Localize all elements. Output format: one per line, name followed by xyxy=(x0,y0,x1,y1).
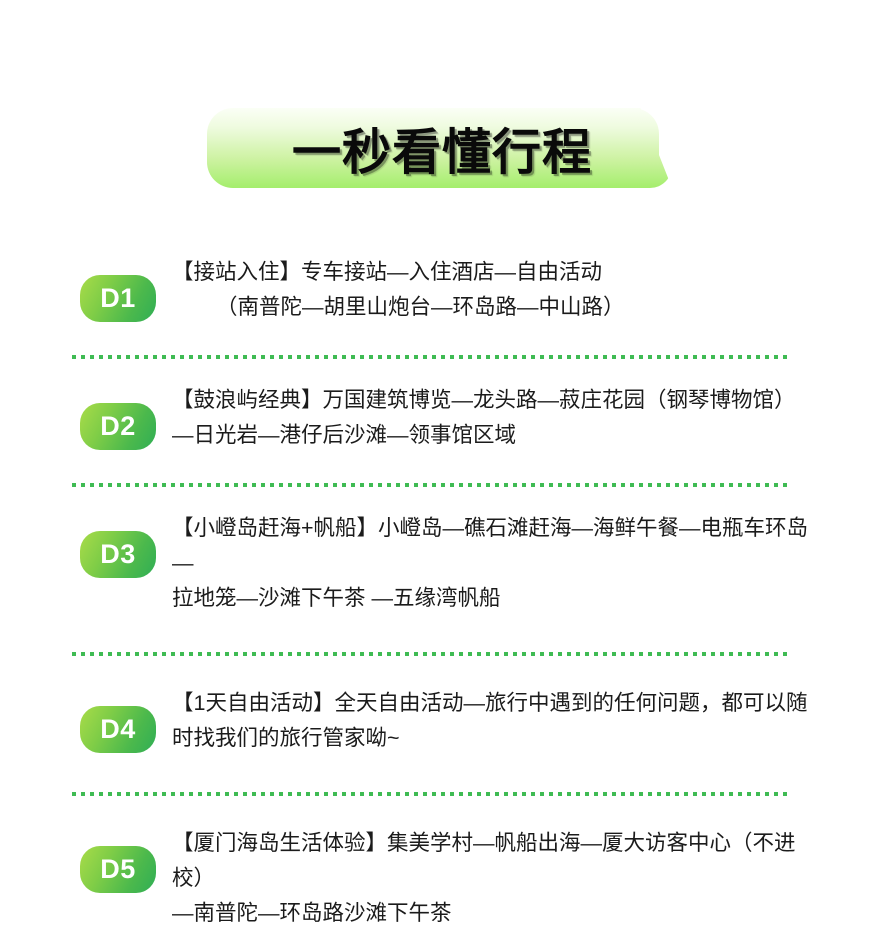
day-badge-d5: D5 xyxy=(80,846,156,893)
day-description-d2: 【鼓浪屿经典】万国建筑博览—龙头路—菽庄花园（钢琴博物馆） —日光岩—港仔后沙滩… xyxy=(156,383,869,453)
day-line: —日光岩—港仔后沙滩—领事馆区域 xyxy=(172,418,811,453)
itinerary-row-d2: D2 【鼓浪屿经典】万国建筑博览—龙头路—菽庄花园（钢琴博物馆） —日光岩—港仔… xyxy=(0,383,869,453)
itinerary-page: 一秒看懂行程 D1 【接站入住】专车接站—入住酒店—自由活动 （南普陀—胡里山炮… xyxy=(0,0,869,869)
page-title: 一秒看懂行程 xyxy=(200,108,690,188)
itinerary-row-d3: D3 【小嶝岛赶海+帆船】小嶝岛—礁石滩赶海—海鲜午餐—电瓶车环岛— 拉地笼—沙… xyxy=(0,511,869,616)
day-line: 拉地笼—沙滩下午茶 —五缘湾帆船 xyxy=(172,581,811,616)
day-line: —南普陀—环岛路沙滩下午茶 xyxy=(172,896,811,931)
day-description-d4: 【1天自由活动】全天自由活动—旅行中遇到的任何问题，都可以随 时找我们的旅行管家… xyxy=(156,686,869,756)
itinerary-row-d4: D4 【1天自由活动】全天自由活动—旅行中遇到的任何问题，都可以随 时找我们的旅… xyxy=(0,686,869,756)
day-line: 【小嶝岛赶海+帆船】小嶝岛—礁石滩赶海—海鲜午餐—电瓶车环岛— xyxy=(172,511,811,581)
day-badge-d4: D4 xyxy=(80,706,156,753)
itinerary-row-d5: D5 【厦门海岛生活体验】集美学村—帆船出海—厦大访客中心（不进校） —南普陀—… xyxy=(0,826,869,931)
itinerary-list: D1 【接站入住】专车接站—入住酒店—自由活动 （南普陀—胡里山炮台—环岛路—中… xyxy=(0,255,869,931)
day-badge-d2: D2 xyxy=(80,403,156,450)
title-banner: 一秒看懂行程 xyxy=(200,108,690,188)
day-description-d1: 【接站入住】专车接站—入住酒店—自由活动 （南普陀—胡里山炮台—环岛路—中山路） xyxy=(156,255,869,325)
day-line: 【接站入住】专车接站—入住酒店—自由活动 xyxy=(172,255,811,290)
day-description-d3: 【小嶝岛赶海+帆船】小嶝岛—礁石滩赶海—海鲜午餐—电瓶车环岛— 拉地笼—沙滩下午… xyxy=(156,511,869,616)
day-badge-d1: D1 xyxy=(80,275,156,322)
day-line: （南普陀—胡里山炮台—环岛路—中山路） xyxy=(172,290,811,325)
day-line: 【1天自由活动】全天自由活动—旅行中遇到的任何问题，都可以随 xyxy=(172,686,811,721)
day-line: 【厦门海岛生活体验】集美学村—帆船出海—厦大访客中心（不进校） xyxy=(172,826,811,896)
day-badge-d3: D3 xyxy=(80,531,156,578)
day-line: 【鼓浪屿经典】万国建筑博览—龙头路—菽庄花园（钢琴博物馆） xyxy=(172,383,811,418)
day-line: 时找我们的旅行管家呦~ xyxy=(172,721,811,756)
itinerary-row-d1: D1 【接站入住】专车接站—入住酒店—自由活动 （南普陀—胡里山炮台—环岛路—中… xyxy=(0,255,869,325)
day-description-d5: 【厦门海岛生活体验】集美学村—帆船出海—厦大访客中心（不进校） —南普陀—环岛路… xyxy=(156,826,869,931)
